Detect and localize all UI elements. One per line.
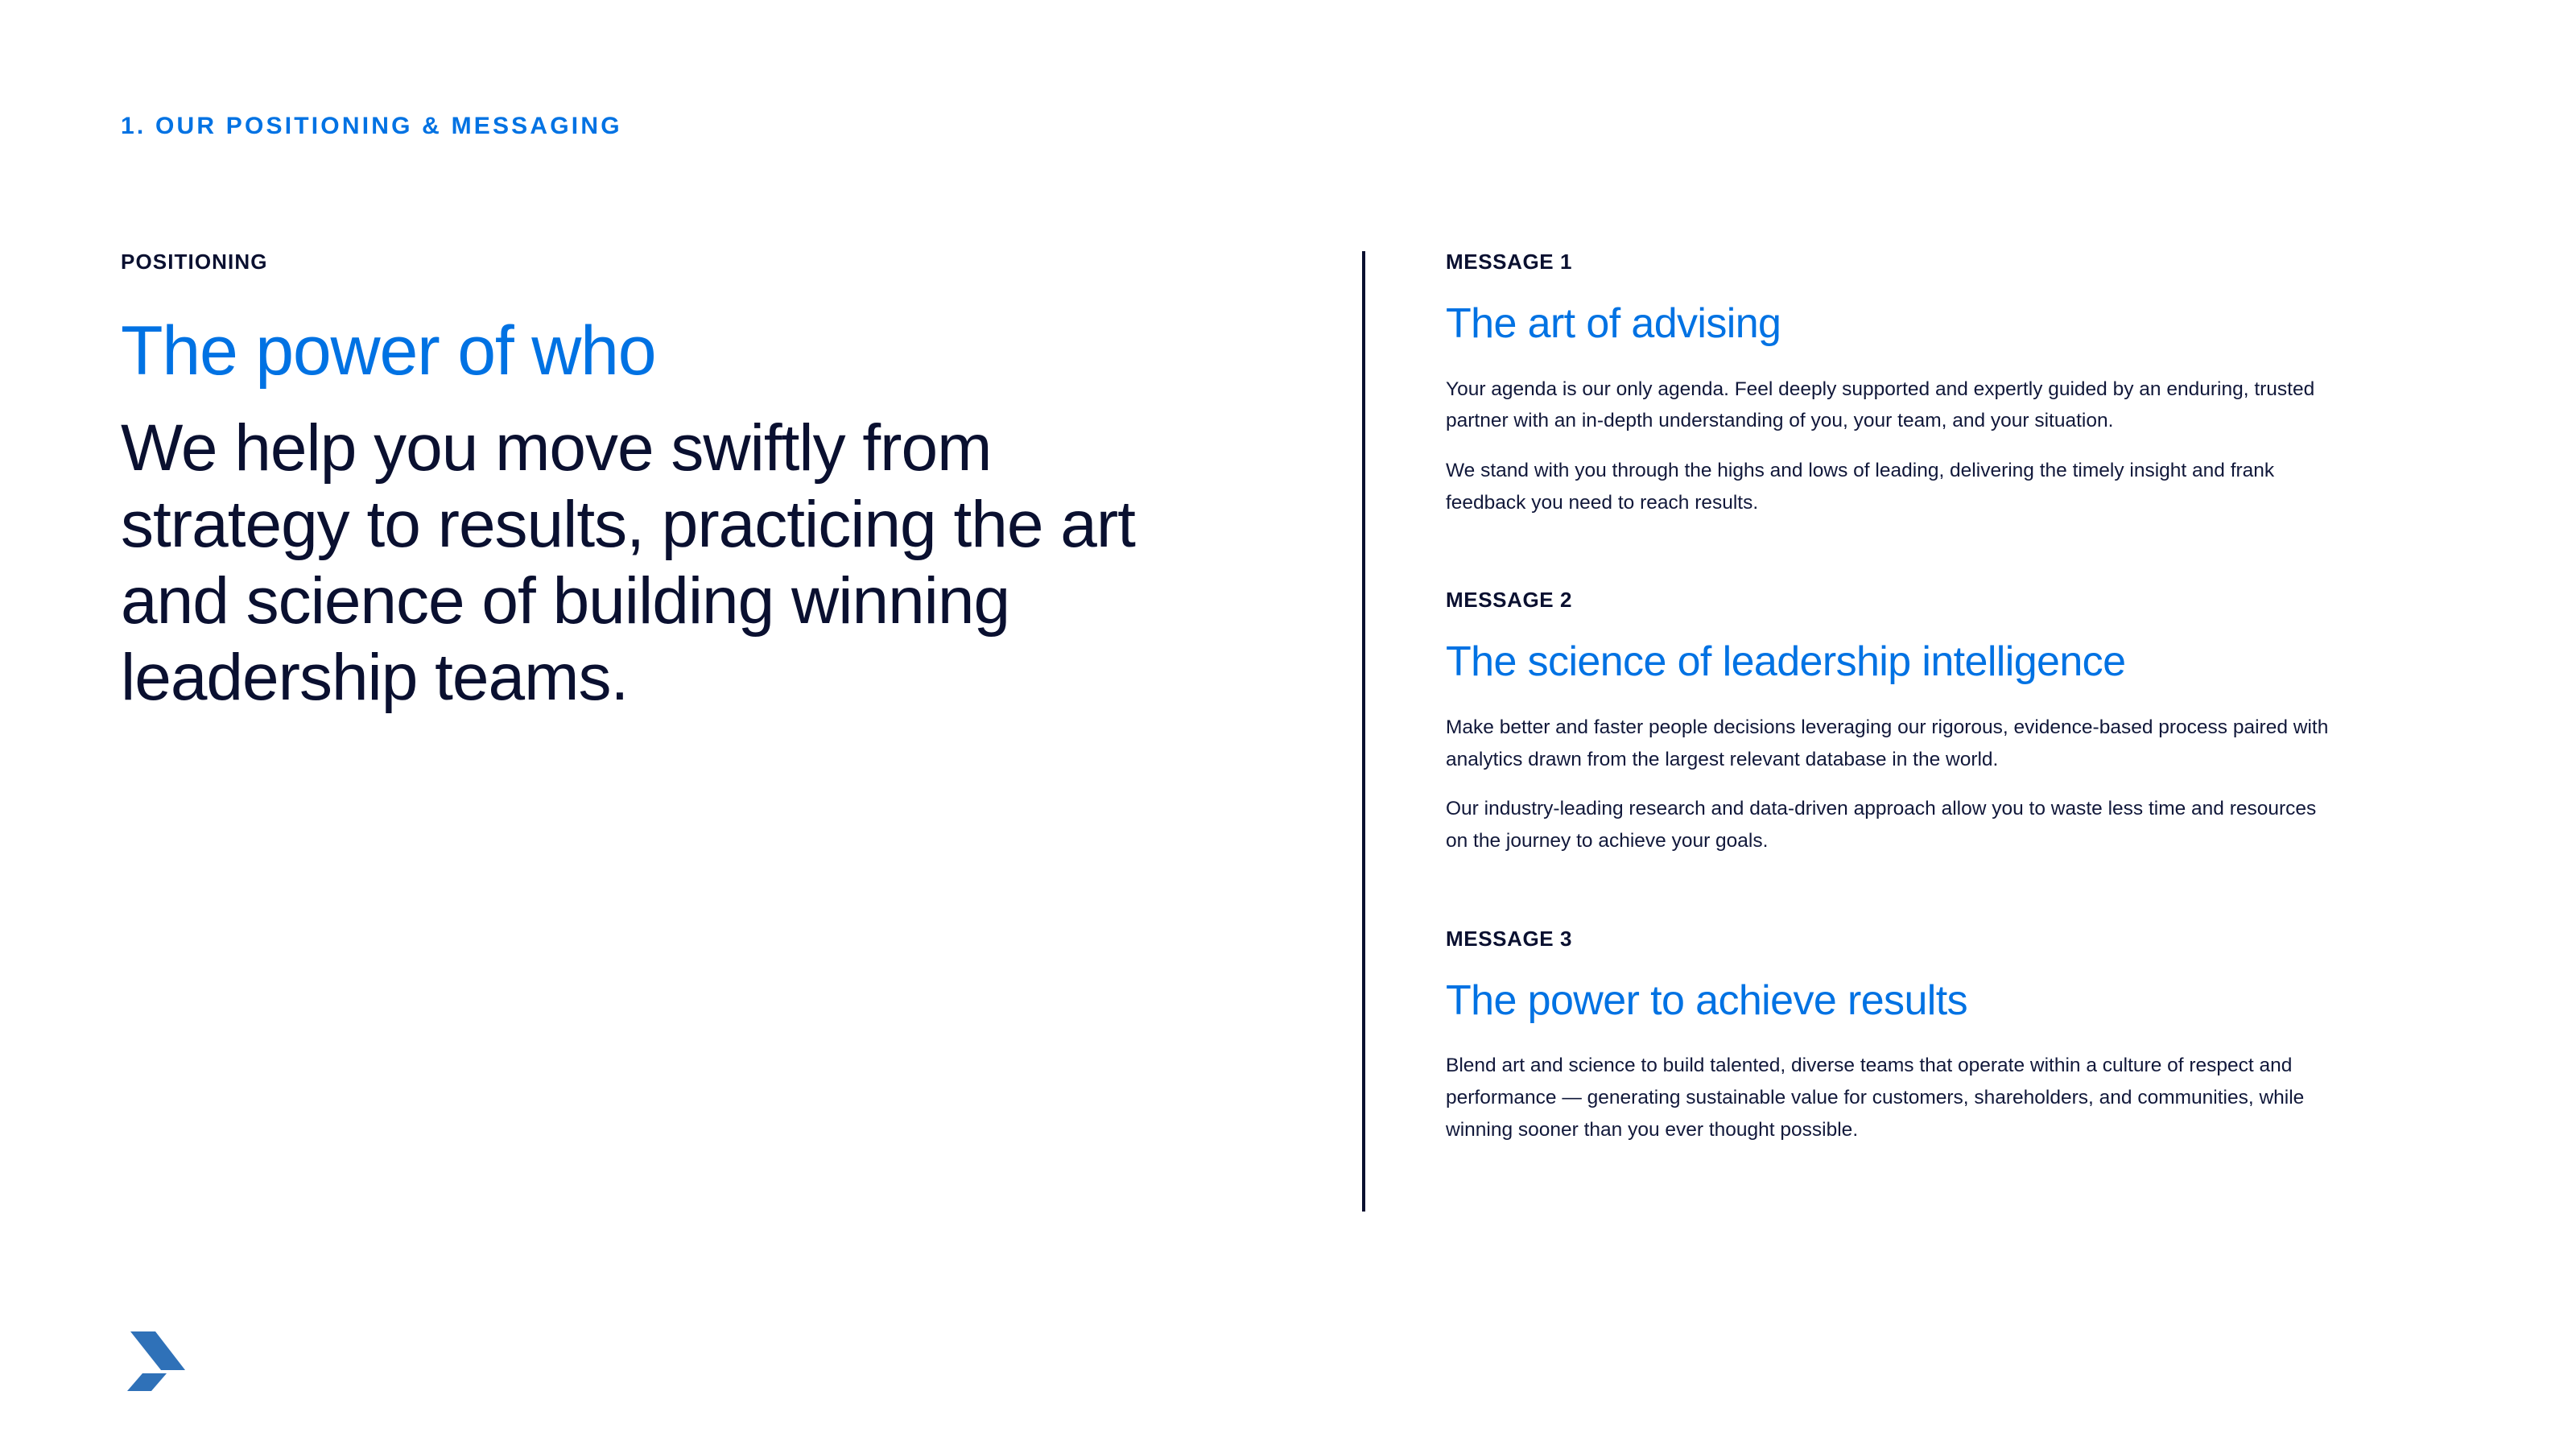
- positioning-statement: We help you move swiftly from strategy t…: [121, 410, 1183, 716]
- messages-column: MESSAGE 1 The art of advising Your agend…: [1446, 250, 2339, 1146]
- message-heading: The science of leadership intelligence: [1446, 640, 2339, 684]
- chevron-logo-icon: [119, 1330, 193, 1393]
- message-block: MESSAGE 1 The art of advising Your agend…: [1446, 250, 2339, 518]
- message-heading: The art of advising: [1446, 302, 2339, 346]
- positioning-label: POSITIONING: [121, 250, 1183, 275]
- message-heading: The power to achieve results: [1446, 979, 2339, 1023]
- message-paragraph: Blend art and science to build talented,…: [1446, 1050, 2339, 1146]
- message-block: MESSAGE 2 The science of leadership inte…: [1446, 588, 2339, 857]
- message-paragraph: Make better and faster people decisions …: [1446, 712, 2339, 775]
- section-header: 1. OUR POSITIONING & MESSAGING: [121, 113, 622, 140]
- positioning-tagline: The power of who: [121, 316, 1183, 386]
- column-divider: [1362, 251, 1365, 1212]
- message-paragraph: We stand with you through the highs and …: [1446, 455, 2339, 518]
- message-label: MESSAGE 2: [1446, 588, 2339, 613]
- positioning-column: POSITIONING The power of who We help you…: [121, 250, 1183, 716]
- message-label: MESSAGE 3: [1446, 927, 2339, 952]
- message-paragraph: Our industry-leading research and data-d…: [1446, 793, 2339, 857]
- message-block: MESSAGE 3 The power to achieve results B…: [1446, 927, 2339, 1146]
- message-paragraph: Your agenda is our only agenda. Feel dee…: [1446, 374, 2339, 437]
- message-label: MESSAGE 1: [1446, 250, 2339, 275]
